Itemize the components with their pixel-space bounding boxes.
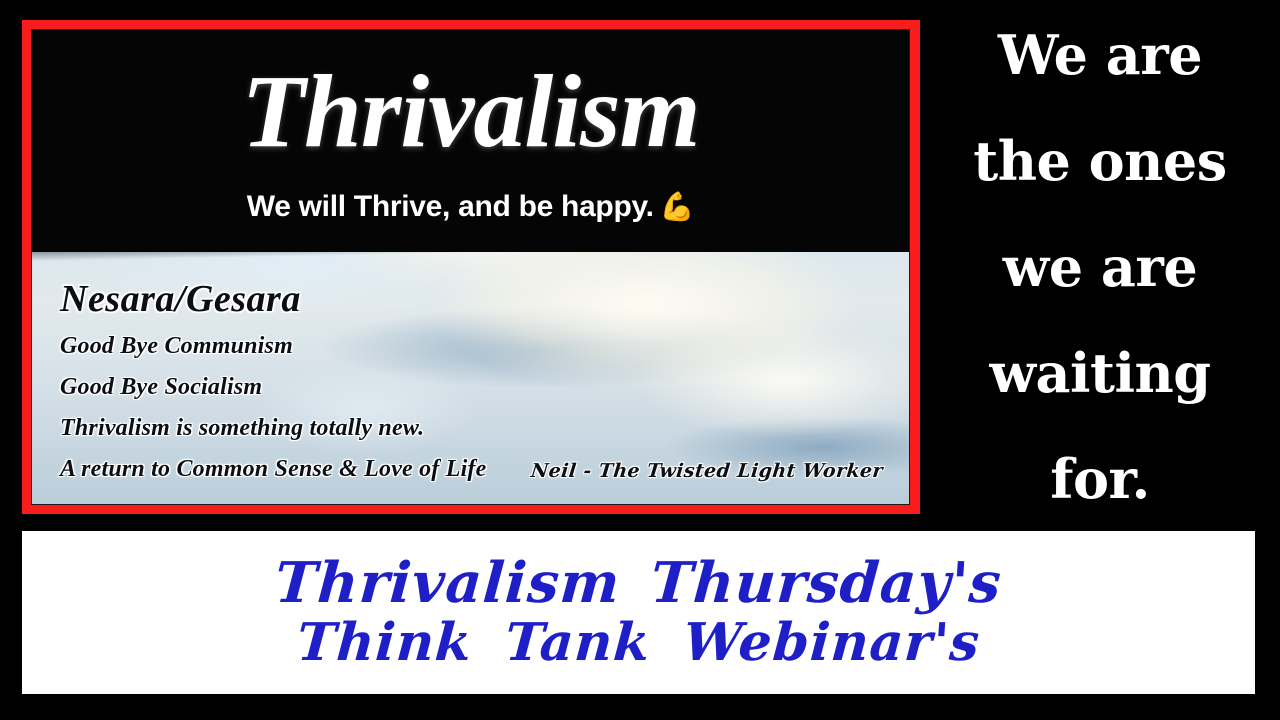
- flexed-biceps-emoji: 💪: [660, 190, 695, 223]
- thrivalism-banner: Thrivalism We will Thrive, and be happy.…: [31, 29, 910, 505]
- tagline-text: We will Thrive, and be happy.: [247, 190, 654, 223]
- nesara-gesara-heading: Nesara/Gesara: [60, 280, 486, 320]
- earth-line-4: A return to Common Sense & Love of Life: [60, 457, 486, 481]
- slide-canvas: Thrivalism We will Thrive, and be happy.…: [0, 0, 1280, 720]
- author-credit: Neil - The Twisted Light Worker: [530, 460, 884, 482]
- quote-block: We are the ones we are waiting for.: [930, 28, 1270, 508]
- webinar-title-line-2: Think Tank Webinar's: [295, 615, 982, 671]
- earth-line-2: Good Bye Socialism: [60, 375, 486, 399]
- webinar-title-bar: Thrivalism Thursday's Think Tank Webinar…: [22, 531, 1255, 694]
- quote-line-1: We are: [930, 28, 1270, 84]
- webinar-title-line-1: Thrivalism Thursday's: [273, 554, 1004, 613]
- thrivalism-wordmark: Thrivalism: [32, 60, 909, 164]
- earth-line-3: Thrivalism is something totally new.: [60, 416, 486, 440]
- quote-line-3: we are: [930, 240, 1270, 296]
- quote-line-2: the ones: [930, 134, 1270, 190]
- thrivalism-tagline: We will Thrive, and be happy.💪: [32, 190, 909, 223]
- thrivalism-banner-frame: Thrivalism We will Thrive, and be happy.…: [22, 20, 920, 514]
- banner-header-panel: Thrivalism We will Thrive, and be happy.…: [32, 30, 909, 252]
- earth-line-1: Good Bye Communism: [60, 334, 486, 358]
- quote-line-4: waiting: [930, 346, 1270, 402]
- quote-line-5: for.: [930, 452, 1270, 508]
- nesara-gesara-text-group: Nesara/Gesara Good Bye Communism Good By…: [60, 280, 486, 481]
